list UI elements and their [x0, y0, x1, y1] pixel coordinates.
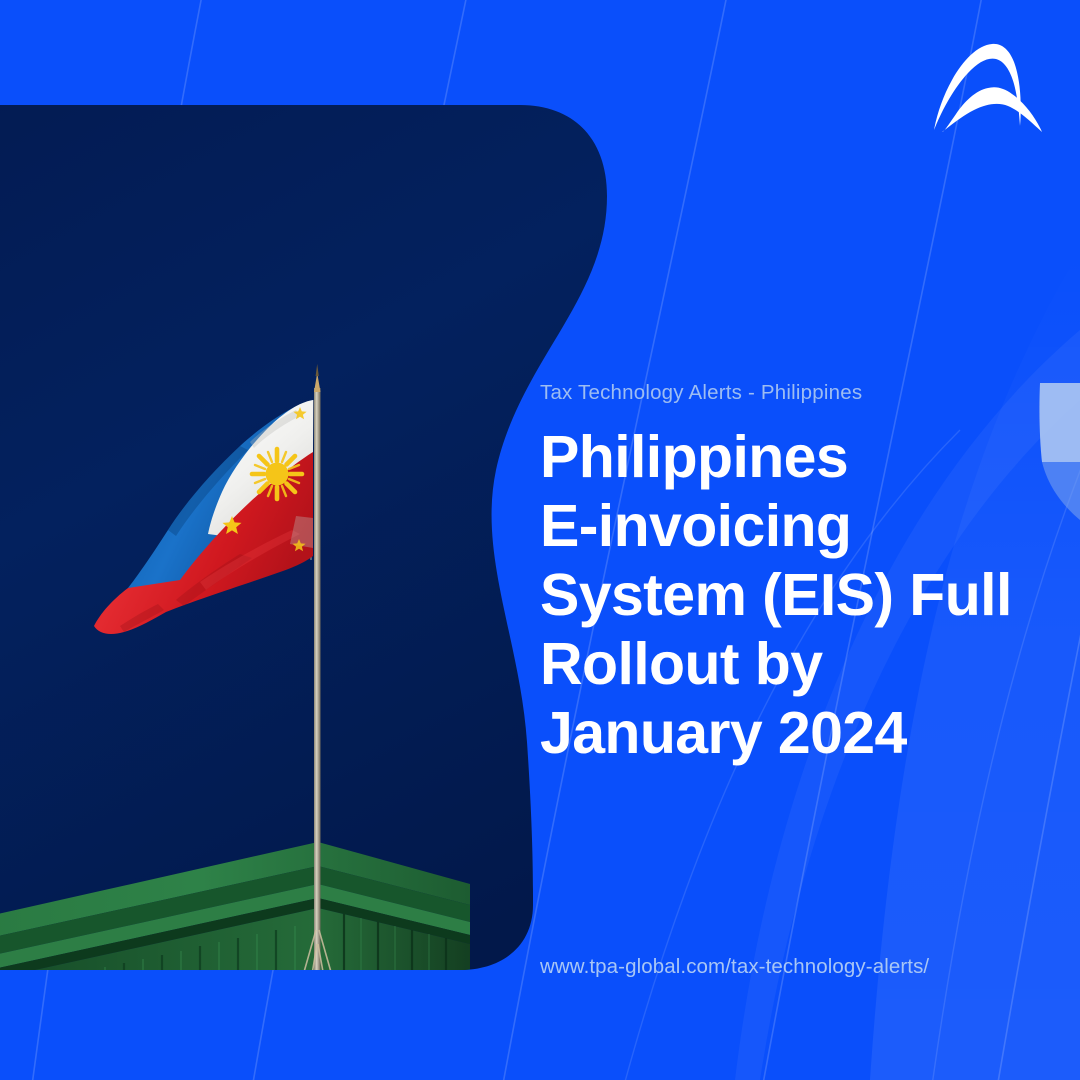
text-column: Tax Technology Alerts - Philippines Phil…: [540, 0, 1040, 1080]
headline-line-1: Philippines: [540, 423, 1010, 492]
headline-line-2: E-invoicing: [540, 492, 1010, 561]
headline-line-4: Rollout by: [540, 630, 1010, 699]
headline-line-3: System (EIS) Full: [540, 561, 1010, 630]
eyebrow-label: Tax Technology Alerts - Philippines: [540, 381, 862, 405]
page-title: Philippines E-invoicing System (EIS) Ful…: [540, 423, 1010, 768]
website-url[interactable]: www.tpa-global.com/tax-technology-alerts…: [540, 955, 929, 979]
social-media-alert-card: Tax Technology Alerts - Philippines Phil…: [0, 0, 1080, 1080]
headline-line-5: January 2024: [540, 699, 1010, 768]
tpa-global-logo[interactable]: [930, 40, 1055, 132]
